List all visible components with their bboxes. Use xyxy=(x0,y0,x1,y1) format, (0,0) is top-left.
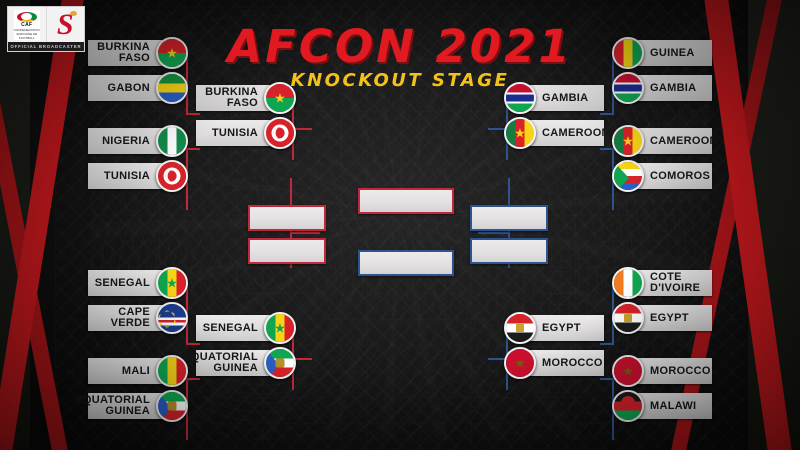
team-name: CAMEROON xyxy=(542,128,610,139)
flag-cape-verde-icon xyxy=(156,302,188,334)
team-name: TUNISIA xyxy=(104,171,150,182)
flag-nigeria-icon xyxy=(156,125,188,157)
r16-left-slot-6[interactable]: CAPE VERDE xyxy=(88,305,180,331)
r16-right-slot-6[interactable]: EGYPT xyxy=(620,305,712,331)
r16-right-slot-4[interactable]: COMOROS xyxy=(620,163,712,189)
flag-egypt-icon xyxy=(612,302,644,334)
r16-left-slot-4[interactable]: TUNISIA xyxy=(88,163,180,189)
connector-right-r16-pair3-out xyxy=(600,343,614,345)
flag-tunisia-icon xyxy=(156,160,188,192)
team-name: MALAWI xyxy=(650,401,696,412)
caf-logo: CAF CONFEDERATION AFRICAINE DE FOOTBALL xyxy=(8,7,46,42)
r16-right-slot-3[interactable]: CAMEROON ★ xyxy=(620,128,712,154)
page-title: AFCON 2021 xyxy=(0,20,800,73)
sf-right-slot-2[interactable] xyxy=(470,238,548,264)
flag-senegal-icon: ★ xyxy=(264,312,296,344)
team-name: EGYPT xyxy=(650,313,689,324)
broadcaster-caption: OFFICIAL BROADCASTER xyxy=(8,42,84,51)
flag-equatorial-guinea-icon xyxy=(156,390,188,422)
qf-right-slot-2[interactable]: CAMEROON ★ xyxy=(512,120,604,146)
team-name: NIGERIA xyxy=(102,136,150,147)
caf-logo-subtext: CONFEDERATION AFRICAINE DE FOOTBALL xyxy=(14,28,40,40)
qf-right-slot-4[interactable]: MOROCCO ★ xyxy=(512,350,604,376)
r16-left-slot-7[interactable]: MALI xyxy=(88,358,180,384)
team-name: EGYPT xyxy=(542,323,581,334)
team-name: GAMBIA xyxy=(542,93,588,104)
supersport-logo: S xyxy=(46,7,85,42)
flag-morocco-icon: ★ xyxy=(504,347,536,379)
flag-equatorial-guinea-icon xyxy=(264,347,296,379)
team-name: EQUATORIAL GUINEA xyxy=(183,352,258,374)
caf-emblem-icon xyxy=(17,12,37,22)
team-name: CAPE VERDE xyxy=(88,307,150,329)
qf-left-slot-2[interactable]: TUNISIA xyxy=(196,120,288,146)
final-slot-2[interactable] xyxy=(358,250,454,276)
qf-left-slot-4[interactable]: EQUATORIAL GUINEA xyxy=(196,350,288,376)
connector-left-r16-pair3-out xyxy=(186,343,200,345)
team-name: MALI xyxy=(122,366,150,377)
connector-left-r16-pair4-out xyxy=(186,378,200,380)
supersport-dot-icon xyxy=(70,11,77,16)
connector-right-final-in xyxy=(478,232,510,234)
flag-morocco-icon: ★ xyxy=(612,355,644,387)
connector-right-r16-pair1-out xyxy=(600,113,614,115)
broadcaster-logo-box: CAF CONFEDERATION AFRICAINE DE FOOTBALL … xyxy=(7,6,85,52)
final-slot-1[interactable] xyxy=(358,188,454,214)
flag-egypt-icon xyxy=(504,312,536,344)
connector-left-final-in xyxy=(290,232,320,234)
sf-left-slot-2[interactable] xyxy=(248,238,326,264)
page-subtitle: KNOCKOUT STAGE xyxy=(0,70,800,91)
r16-left-slot-5[interactable]: SENEGAL ★ xyxy=(88,270,180,296)
team-name: SENEGAL xyxy=(203,323,258,334)
r16-right-slot-5[interactable]: COTE D'IVOIRE xyxy=(620,270,712,296)
flag-senegal-icon: ★ xyxy=(156,267,188,299)
flag-cameroon-icon: ★ xyxy=(504,117,536,149)
r16-left-slot-8[interactable]: EQUATORIAL GUINEA xyxy=(88,393,180,419)
qf-right-slot-3[interactable]: EGYPT xyxy=(512,315,604,341)
team-name: MOROCCO xyxy=(542,358,603,369)
bracket-stage: CAF CONFEDERATION AFRICAINE DE FOOTBALL … xyxy=(0,0,800,450)
team-name: EQUATORIAL GUINEA xyxy=(75,395,150,417)
sf-left-slot-1[interactable] xyxy=(248,205,326,231)
connector-left-r16-pair2-out xyxy=(186,148,200,150)
flag-malawi-icon xyxy=(612,390,644,422)
r16-right-slot-8[interactable]: MALAWI xyxy=(620,393,712,419)
team-name: COTE D'IVOIRE xyxy=(650,272,700,294)
r16-right-slot-7[interactable]: MOROCCO ★ xyxy=(620,358,712,384)
flag-cote-divoire-icon xyxy=(612,267,644,299)
qf-left-slot-3[interactable]: SENEGAL ★ xyxy=(196,315,288,341)
team-name: SENEGAL xyxy=(95,278,150,289)
team-name: TUNISIA xyxy=(212,128,258,139)
flag-comoros-icon xyxy=(612,160,644,192)
flag-cameroon-icon: ★ xyxy=(612,125,644,157)
connector-left-r16-pair1-out xyxy=(186,113,200,115)
connector-right-r16-pair4-out xyxy=(600,378,614,380)
connector-right-r16-pair2-out xyxy=(600,148,614,150)
sf-right-slot-1[interactable] xyxy=(470,205,548,231)
team-name: CAMEROON xyxy=(650,136,718,147)
team-name: COMOROS xyxy=(650,171,710,182)
flag-tunisia-icon xyxy=(264,117,296,149)
team-name: MOROCCO xyxy=(650,366,711,377)
r16-left-slot-3[interactable]: NIGERIA xyxy=(88,128,180,154)
